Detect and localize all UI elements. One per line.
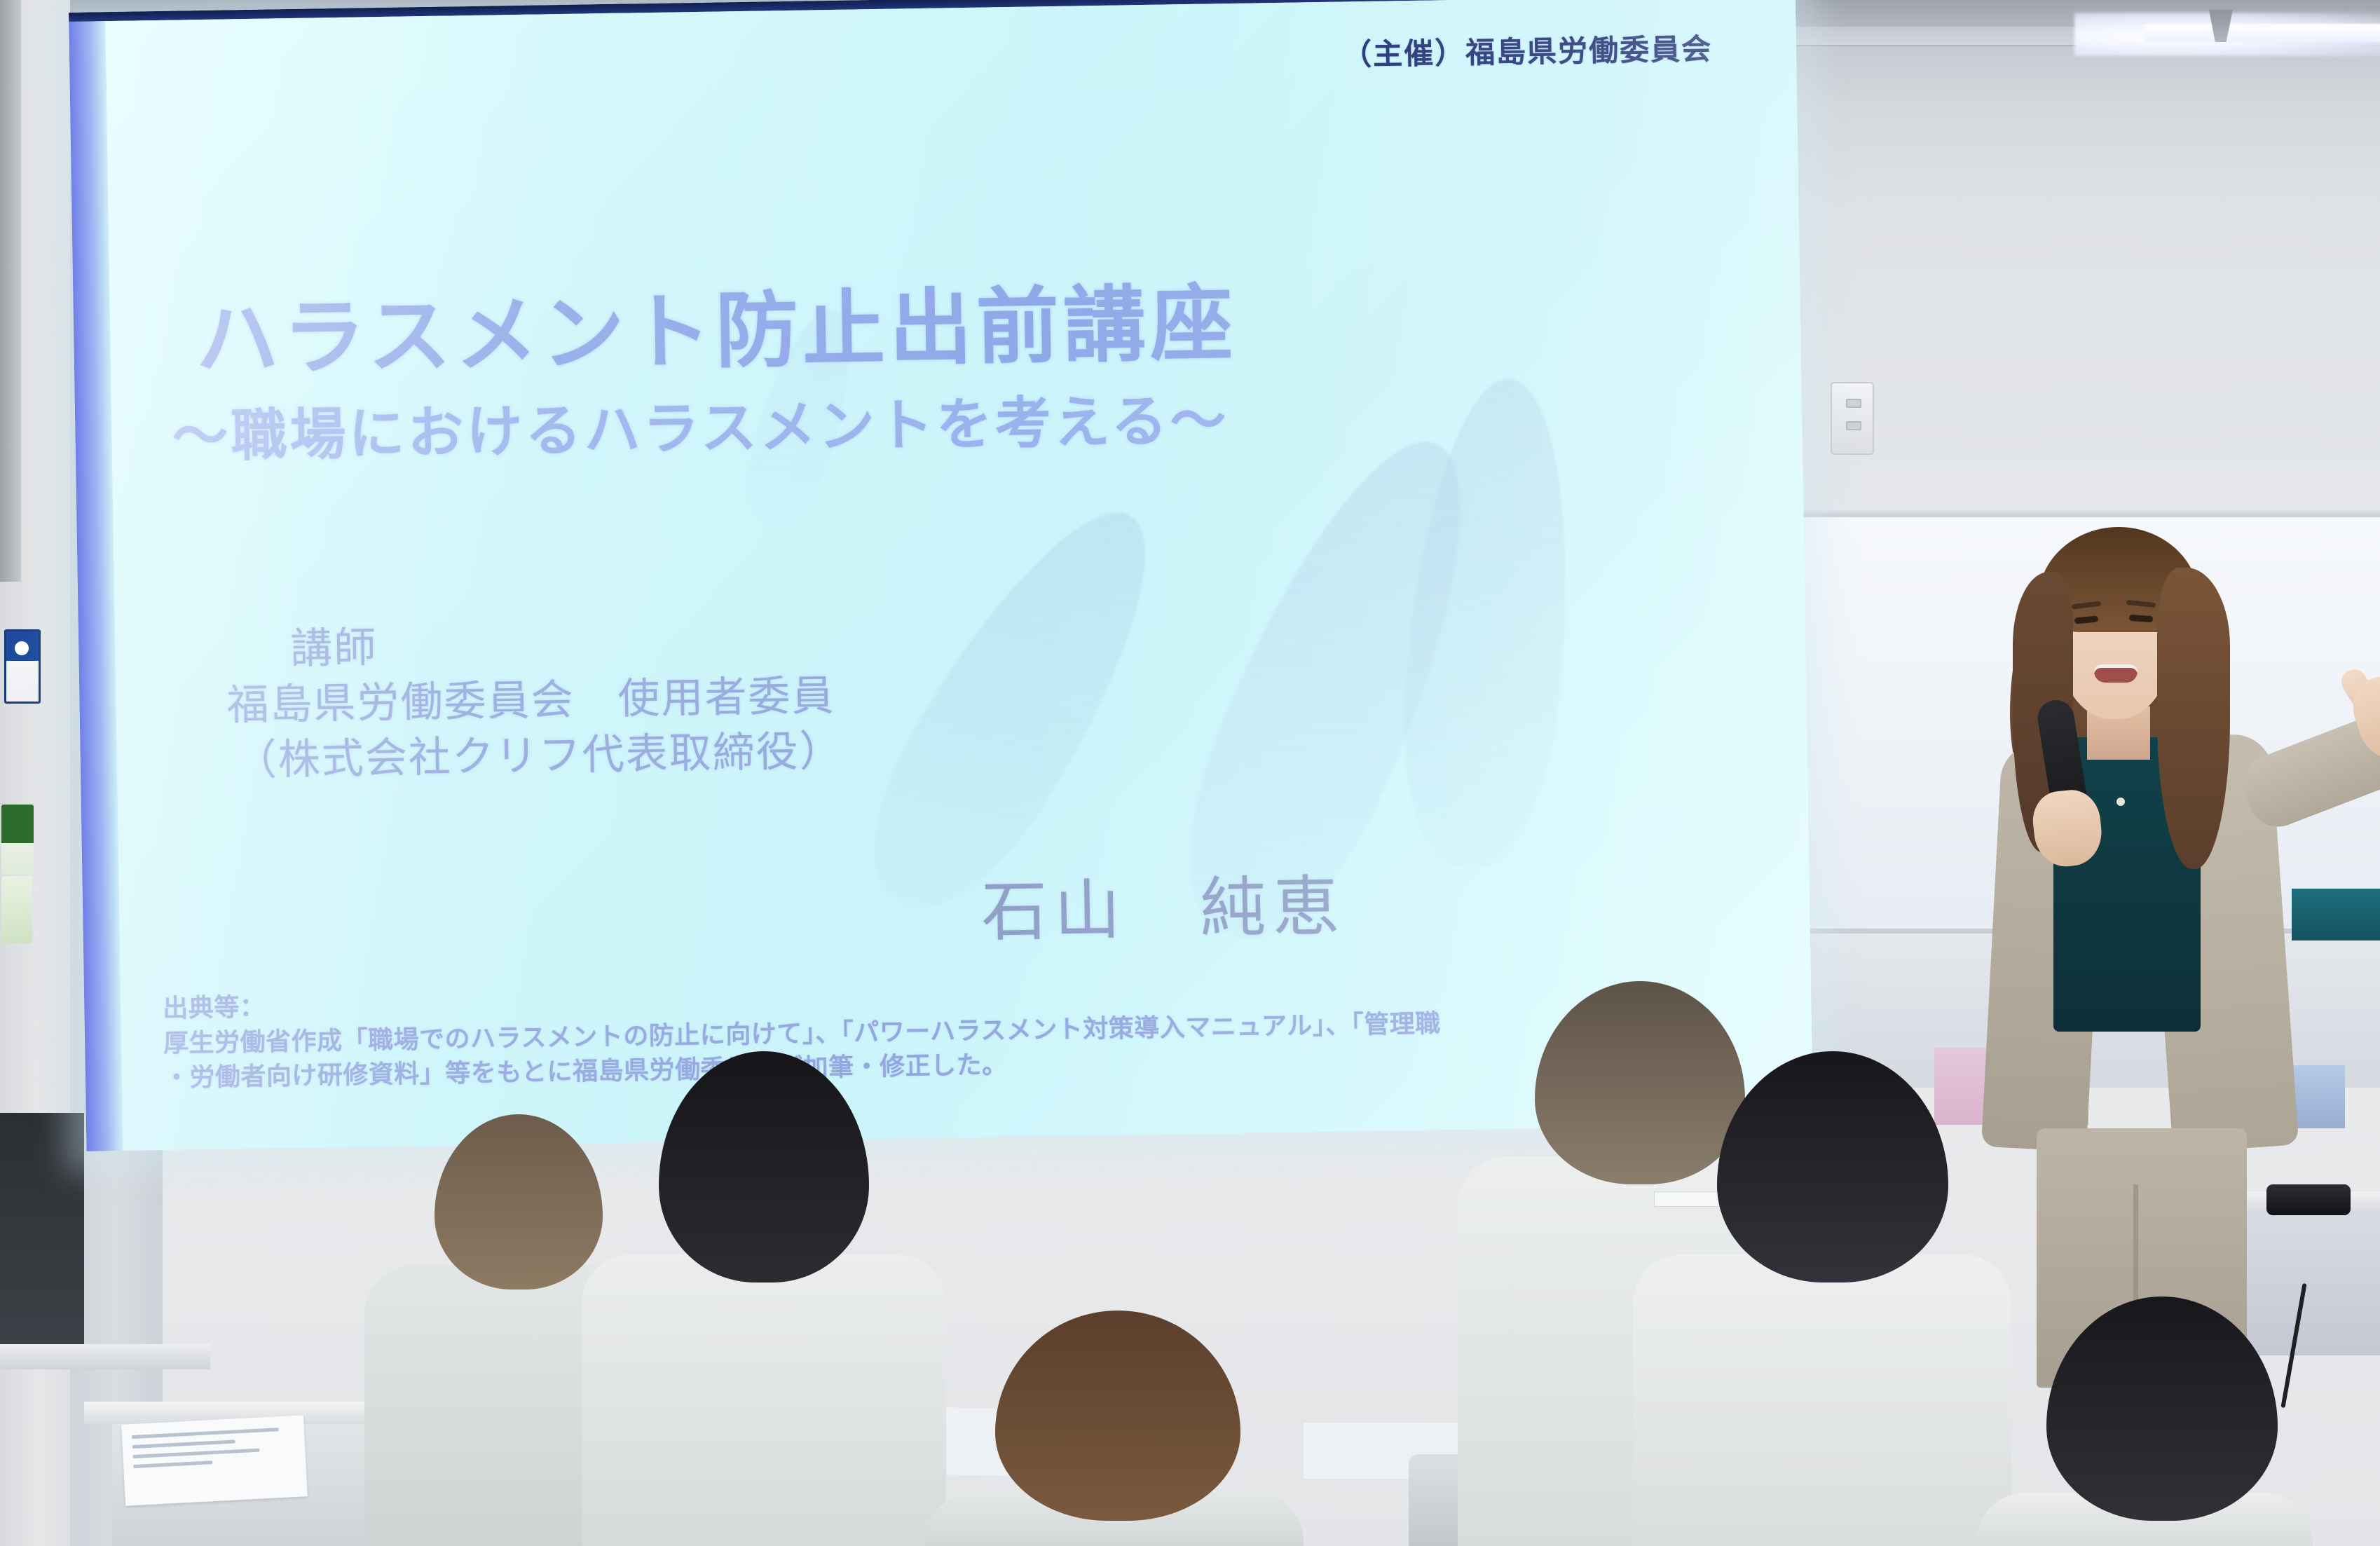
list-item: [582, 1051, 946, 1546]
lecturer-affiliation: 福島県労働委員会 使用者委員: [226, 668, 842, 733]
handout-text-lines: [132, 1428, 281, 1475]
list-item: [1976, 1297, 2313, 1546]
seminar-room-scene: （主催）福島県労働委員会 ハラスメント防止出前講座 〜職場におけるハラスメントを…: [0, 0, 2380, 1546]
presenter-mouth: [2094, 664, 2138, 683]
attendee-torso: [582, 1254, 946, 1546]
slide-organizer-header: （主催）福島県労働委員会: [1342, 25, 1713, 74]
attendee-head: [435, 1114, 603, 1290]
presenter-hair-right: [2157, 568, 2230, 869]
attendee-head: [659, 1051, 869, 1282]
lecturer-position: （株式会社クリフ代表取締役）: [234, 723, 843, 788]
presenter-speaker: [1948, 512, 2380, 1388]
presenter-necklace-pendant: [2116, 798, 2125, 806]
blue-notice-sign: [4, 629, 41, 704]
left-dark-cabinet: [0, 1113, 84, 1344]
attendee-torso: [1633, 1254, 2011, 1546]
projection-screen: （主催）福島県労働委員会 ハラスメント防止出前講座 〜職場におけるハラスメントを…: [69, 0, 1813, 1151]
left-side-table: [0, 1344, 210, 1369]
attendee-head: [2046, 1297, 2278, 1521]
lecturer-label: 講師: [290, 613, 842, 677]
fluorescent-tube-icon: [2145, 24, 2380, 42]
attendee-head: [995, 1311, 1240, 1521]
left-wall-shadow: [0, 0, 21, 582]
green-notice-sign-lower: [1, 876, 32, 943]
green-notice-sign: [1, 805, 34, 875]
lecturer-name: 石山 純恵: [980, 854, 1346, 955]
attendee-head: [1717, 1051, 1948, 1282]
list-item: [925, 1311, 1304, 1546]
presentation-slide: （主催）福島県労働委員会 ハラスメント防止出前講座 〜職場におけるハラスメントを…: [105, 0, 1813, 1151]
slide-title: ハラスメント防止出前講座: [195, 249, 1668, 392]
lecturer-info-block: 講師 福島県労働委員会 使用者委員 （株式会社クリフ代表取締役）: [290, 613, 844, 788]
wall-power-outlet-icon: [1831, 382, 1874, 455]
list-item: [1633, 1051, 2011, 1546]
handout-paper: [121, 1415, 308, 1505]
